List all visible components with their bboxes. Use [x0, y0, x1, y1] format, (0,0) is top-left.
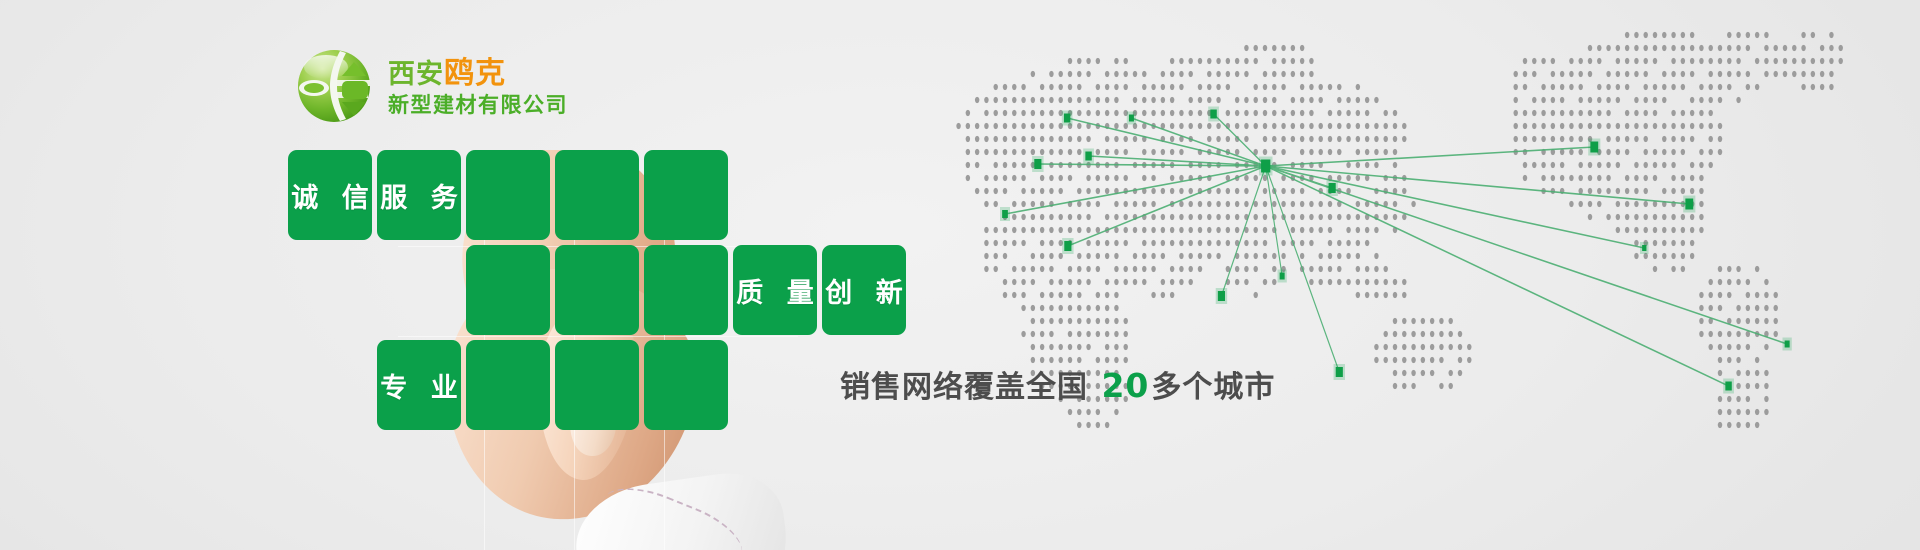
tagline-prefix: 销售网络覆盖全国: [840, 370, 1088, 405]
map-link-node-africa-e: [1266, 166, 1282, 276]
logo-brand: 鸥克: [444, 56, 506, 91]
map-marker-node-africa-nw: [1000, 207, 1010, 221]
tile-blank-r2c3[interactable]: [466, 245, 550, 335]
map-marker-node-africa-s: [1334, 364, 1345, 380]
tile-blank-r1c4[interactable]: [555, 150, 639, 240]
map-link-node-sa-north: [1266, 166, 1787, 344]
photo-gridline-h2: [398, 336, 798, 337]
values-mosaic: 诚 信 服 务 质 量 创 新 专 业: [288, 150, 904, 418]
tile-service[interactable]: 服 务: [377, 150, 461, 240]
tile-label-quality: 质 量: [729, 271, 820, 310]
tile-professional[interactable]: 专 业: [377, 340, 461, 430]
logo-title-line: 西安鸥克: [388, 57, 568, 91]
sales-network-tagline: 销售网络覆盖全国 20多个城市: [840, 362, 1275, 406]
tile-blank-r1c3[interactable]: [466, 150, 550, 240]
map-marker-node-sea: [1326, 180, 1337, 196]
map-marker-node-sa-south: [1723, 379, 1734, 394]
map-marker-node-carib: [1640, 242, 1649, 254]
tile-blank-r1c5[interactable]: [644, 150, 728, 240]
map-marker-node-ne-asia: [1208, 107, 1219, 122]
tile-label-integrity: 诚 信: [284, 176, 375, 215]
tile-blank-r3c4[interactable]: [555, 340, 639, 430]
map-marker-hub-china: [1259, 157, 1273, 176]
map-marker-node-ru-central: [1127, 112, 1136, 125]
promo-banner: 西安鸥克 新型建材有限公司 诚 信 服 务: [0, 0, 1920, 550]
map-marker-node-africa-e: [1278, 270, 1287, 283]
map-marker-node-europe-e: [1083, 149, 1094, 164]
logo-city: 西安: [388, 59, 444, 90]
map-marker-node-europe-w: [1032, 156, 1043, 172]
tile-blank-r2c4[interactable]: [555, 245, 639, 335]
ouke-sphere-emblem-icon: [296, 48, 372, 124]
logo-text-block: 西安鸥克 新型建材有限公司: [388, 55, 568, 118]
tagline-highlight: 20: [1099, 366, 1151, 405]
tile-label-service: 服 务: [373, 176, 464, 215]
map-link-node-sa-south: [1266, 166, 1729, 386]
tile-integrity[interactable]: 诚 信: [288, 150, 372, 240]
tile-quality[interactable]: 质 量: [733, 245, 817, 335]
map-marker-node-us-west: [1588, 139, 1600, 156]
map-link-node-ne-asia: [1214, 114, 1266, 166]
tile-blank-r3c5[interactable]: [644, 340, 728, 430]
tile-blank-r2c5[interactable]: [644, 245, 728, 335]
map-marker-node-africa-w: [1062, 238, 1073, 254]
map-marker-node-mideast: [1216, 288, 1227, 304]
tile-label-professional: 专 业: [373, 366, 464, 405]
map-marker-node-north-ru: [1062, 111, 1073, 126]
tile-blank-r3c3[interactable]: [466, 340, 550, 430]
logo-subtitle: 新型建材有限公司: [388, 93, 568, 117]
map-marker-node-us-east: [1683, 196, 1695, 213]
tagline-suffix: 多个城市: [1151, 370, 1275, 405]
map-link-node-carib: [1266, 166, 1645, 248]
map-marker-node-sa-north: [1783, 338, 1792, 351]
company-logo[interactable]: 西安鸥克 新型建材有限公司: [296, 48, 568, 124]
